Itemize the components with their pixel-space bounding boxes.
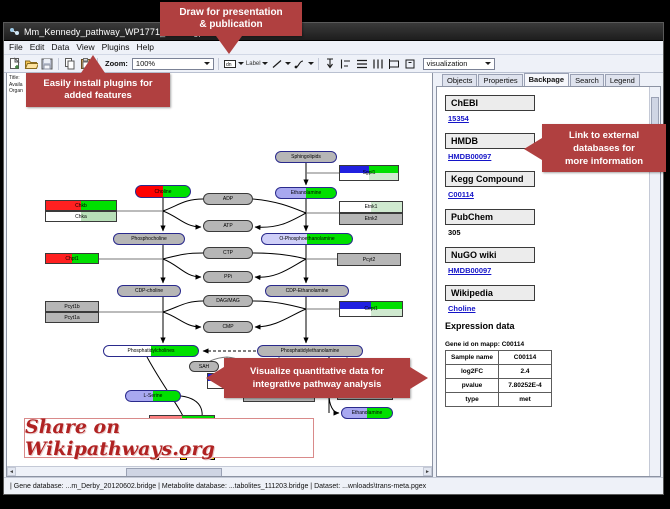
align-top-icon[interactable] xyxy=(323,57,337,71)
node-label: Chpt1 xyxy=(65,256,78,262)
node-cdp-choline[interactable]: CDP-choline xyxy=(117,285,181,297)
title-bar: Mm_Kennedy_pathway_WP1771_45176.gpml xyxy=(4,23,663,41)
distribute-icon[interactable] xyxy=(371,57,385,71)
expr-key: log2FC xyxy=(446,365,499,379)
db-header-hmdb: HMDB xyxy=(445,133,535,149)
same-height-icon[interactable] xyxy=(403,57,417,71)
node-phosphatidylcholines[interactable]: Phosphatidylcholines xyxy=(103,345,199,357)
db-link-kegg-compound[interactable]: C00114 xyxy=(448,190,646,199)
callout-plugins: Easily install plugins for added feature… xyxy=(26,73,170,107)
node-label: ATP xyxy=(223,223,232,229)
menu-item-help[interactable]: Help xyxy=(137,41,154,54)
callout-visualize-arrow-left-icon xyxy=(206,367,224,389)
db-header-nugo-wiki: NuGO wiki xyxy=(445,247,535,263)
node-dag-mag[interactable]: DAG/MAG xyxy=(203,295,253,307)
expr-value: 7.80252E-4 xyxy=(499,379,552,393)
callout-visualize-line2: integrative pathway analysis xyxy=(247,378,388,391)
callout-visualize-line1: Visualize quantitative data for xyxy=(244,365,390,378)
table-row: Sample name C00114 xyxy=(446,351,552,365)
callout-draw-line2: & publication xyxy=(193,19,268,31)
menu-item-edit[interactable]: Edit xyxy=(30,41,45,54)
callout-visualize: Visualize quantitative data for integrat… xyxy=(224,358,410,398)
node-chka[interactable]: Chka xyxy=(45,211,117,222)
node-o-phosphoethanolamine[interactable]: O-Phosphoethanolamine xyxy=(261,233,353,245)
node-label: Ethanolamine xyxy=(291,190,322,196)
callout-visualize-arrow-right-icon xyxy=(410,367,428,389)
db-link-wikipedia[interactable]: Choline xyxy=(448,304,646,313)
db-header-kegg-compound: Kegg Compound xyxy=(445,171,535,187)
datanode-icon[interactable]: dn xyxy=(223,57,237,71)
save-icon[interactable] xyxy=(40,57,54,71)
expression-data-title: Expression data xyxy=(445,321,646,331)
chevron-down-icon[interactable] xyxy=(285,62,291,65)
menu-item-data[interactable]: Data xyxy=(51,41,69,54)
callout-link-arrow-icon xyxy=(524,138,542,160)
chevron-down-icon[interactable] xyxy=(484,59,493,69)
callout-plugins-arrow-icon xyxy=(81,55,105,73)
copy-icon[interactable] xyxy=(63,57,77,71)
node-label: CTP xyxy=(223,250,233,256)
tab-backpage[interactable]: Backpage xyxy=(524,73,569,86)
chevron-down-icon[interactable] xyxy=(262,62,268,65)
db-link-chebi[interactable]: 15354 xyxy=(448,114,646,123)
same-width-icon[interactable] xyxy=(387,57,401,71)
node-label: CMP xyxy=(222,324,233,330)
chevron-down-icon[interactable] xyxy=(203,59,212,69)
menu-item-file[interactable]: File xyxy=(9,41,23,54)
line-tool[interactable] xyxy=(270,57,291,71)
toolbar-separator xyxy=(58,58,59,70)
callout-plugins-line2: added features xyxy=(58,90,138,102)
node-label: Sgpl1 xyxy=(363,170,376,176)
table-row: pvalue 7.80252E-4 xyxy=(446,379,552,393)
db-header-pubchem: PubChem xyxy=(445,209,535,225)
node-ethanolamine-top[interactable]: Ethanolamine xyxy=(275,187,337,199)
share-banner-text: Share on Wikipathways.org xyxy=(25,416,313,460)
interaction-tool-icon[interactable] xyxy=(293,57,307,71)
node-etnk1[interactable]: Etnk1 xyxy=(339,201,403,213)
node-cmp[interactable]: CMP xyxy=(203,321,253,333)
menu-item-plugins[interactable]: Plugins xyxy=(102,41,130,54)
node-atp[interactable]: ATP xyxy=(203,220,253,232)
db-link-nugo-wiki[interactable]: HMDB00097 xyxy=(448,266,646,275)
node-label: Etnk2 xyxy=(365,216,378,222)
share-banner: Share on Wikipathways.org xyxy=(24,418,314,458)
node-label: Phosphatidylcholines xyxy=(128,348,175,354)
callout-link-line3: more information xyxy=(559,155,649,168)
zoom-combo[interactable]: 100% xyxy=(132,58,214,70)
chevron-down-icon[interactable] xyxy=(238,62,244,65)
node-cept1[interactable]: Cept1 xyxy=(339,301,403,317)
visualization-combo[interactable]: visualization xyxy=(423,58,495,70)
screenshot-root: Mm_Kennedy_pathway_WP1771_45176.gpml Fil… xyxy=(0,0,670,509)
node-label: Pcyt1b xyxy=(64,304,79,310)
expr-key: type xyxy=(446,393,499,407)
label-tool-label: Label xyxy=(246,61,261,67)
node-label: Chka xyxy=(75,214,87,220)
node-ppi[interactable]: PPi xyxy=(203,271,253,283)
new-file-icon[interactable] xyxy=(8,57,22,71)
callout-link-line1: Link to external xyxy=(563,129,645,142)
node-label: Pcyt2 xyxy=(363,257,376,263)
node-label: Etnk1 xyxy=(365,204,378,210)
canvas-hscrollbar[interactable]: ◄ ► xyxy=(7,466,432,476)
open-folder-icon[interactable] xyxy=(24,57,38,71)
node-etnk2[interactable]: Etnk2 xyxy=(339,213,403,225)
node-label: Choline xyxy=(155,189,172,195)
toolbar-separator xyxy=(318,58,319,70)
align-left-icon[interactable] xyxy=(339,57,353,71)
table-row: log2FC 2.4 xyxy=(446,365,552,379)
node-sgpl1[interactable]: Sgpl1 xyxy=(339,165,399,181)
callout-draw-arrow-icon xyxy=(216,36,242,54)
tab-search[interactable]: Search xyxy=(570,74,604,86)
expr-key: pvalue xyxy=(446,379,499,393)
node-label: Sphingolipids xyxy=(291,154,321,160)
node-label: Pcyt1a xyxy=(64,315,79,321)
node-chpt1[interactable]: Chpt1 xyxy=(45,253,99,264)
menu-item-view[interactable]: View xyxy=(76,41,94,54)
node-label: Phosphatidylethanolamine xyxy=(281,348,340,354)
status-text: | Gene database: ...m_Derby_20120602.bri… xyxy=(4,483,426,490)
callout-draw: Draw for presentation & publication xyxy=(160,2,302,36)
scroll-right-icon[interactable]: ► xyxy=(423,467,432,476)
tab-legend[interactable]: Legend xyxy=(605,74,640,86)
node-label: PPi xyxy=(224,274,232,280)
db-header-chebi: ChEBI xyxy=(445,95,535,111)
node-pcyt1a[interactable]: Pcyt1a xyxy=(45,312,99,323)
callout-plugins-line1: Easily install plugins for xyxy=(37,78,158,90)
node-phosphatidylethanolamine[interactable]: Phosphatidylethanolamine xyxy=(257,345,363,357)
node-label: O-Phosphoethanolamine xyxy=(279,236,334,242)
db-header-wikipedia: Wikipedia xyxy=(445,285,535,301)
node-adp[interactable]: ADP xyxy=(203,193,253,205)
callout-link: Link to external databases for more info… xyxy=(542,124,666,172)
pathvisio-icon xyxy=(9,26,20,37)
callout-draw-line1: Draw for presentation xyxy=(173,7,288,19)
node-pcyt2[interactable]: Pcyt2 xyxy=(337,253,401,266)
node-ctp[interactable]: CTP xyxy=(203,247,253,259)
node-l-serine-left[interactable]: L-Serine xyxy=(125,390,181,402)
callout-link-line2: databases for xyxy=(567,142,641,155)
node-choline-top[interactable]: Choline xyxy=(135,185,191,198)
toolbar-separator xyxy=(218,58,219,70)
canvas-hscroll-thumb[interactable] xyxy=(126,468,222,477)
interaction-tool[interactable] xyxy=(293,57,314,71)
expr-value: met xyxy=(499,393,552,407)
node-label: DAG/MAG xyxy=(216,298,240,304)
zoom-value: 100% xyxy=(136,59,155,68)
stack-vertical-icon[interactable] xyxy=(355,57,369,71)
tab-properties[interactable]: Properties xyxy=(478,74,522,86)
node-label: Phosphocholine xyxy=(131,236,167,242)
node-label: Cept1 xyxy=(364,306,377,312)
svg-text:dn: dn xyxy=(226,62,232,68)
gene-id-line: Gene id on mapp: C00114 xyxy=(445,341,646,348)
expr-value: 2.4 xyxy=(499,365,552,379)
node-phosphocholine[interactable]: Phosphocholine xyxy=(113,233,185,245)
table-row: type met xyxy=(446,393,552,407)
zoom-label: Zoom: xyxy=(105,59,128,68)
node-chkb[interactable]: Chkb xyxy=(45,200,117,211)
datanode-tool[interactable]: dn xyxy=(223,57,244,71)
expr-value: C00114 xyxy=(499,351,552,365)
tab-objects[interactable]: Objects xyxy=(442,74,477,86)
node-label: Chkb xyxy=(75,203,87,209)
node-sphingolipids[interactable]: Sphingolipids xyxy=(275,151,337,163)
label-tool[interactable]: Label xyxy=(246,61,268,67)
db-value-pubchem: 305 xyxy=(448,228,646,237)
node-label: ADP xyxy=(223,196,233,202)
expression-table: Sample name C00114 log2FC 2.4 pvalue 7.8… xyxy=(445,350,552,407)
expr-key: Sample name xyxy=(446,351,499,365)
node-cdp-ethanolamine[interactable]: CDP-Ethanolamine xyxy=(265,285,349,297)
scroll-left-icon[interactable]: ◄ xyxy=(7,467,16,476)
node-pcyt1b[interactable]: Pcyt1b xyxy=(45,301,99,312)
node-ethanolamine-right[interactable]: Ethanolamine xyxy=(341,407,393,419)
menu-bar: File Edit Data View Plugins Help xyxy=(4,41,663,55)
node-label: Ethanolamine xyxy=(352,410,383,416)
node-label: L-Serine xyxy=(144,393,163,399)
node-label: CDP-choline xyxy=(135,288,163,294)
visualization-value: visualization xyxy=(427,59,468,68)
status-bar: | Gene database: ...m_Derby_20120602.bri… xyxy=(4,477,663,494)
side-tabs: Objects Properties Backpage Search Legen… xyxy=(436,73,661,86)
node-label: CDP-Ethanolamine xyxy=(286,288,329,294)
chevron-down-icon[interactable] xyxy=(308,62,314,65)
line-tool-icon[interactable] xyxy=(270,57,284,71)
